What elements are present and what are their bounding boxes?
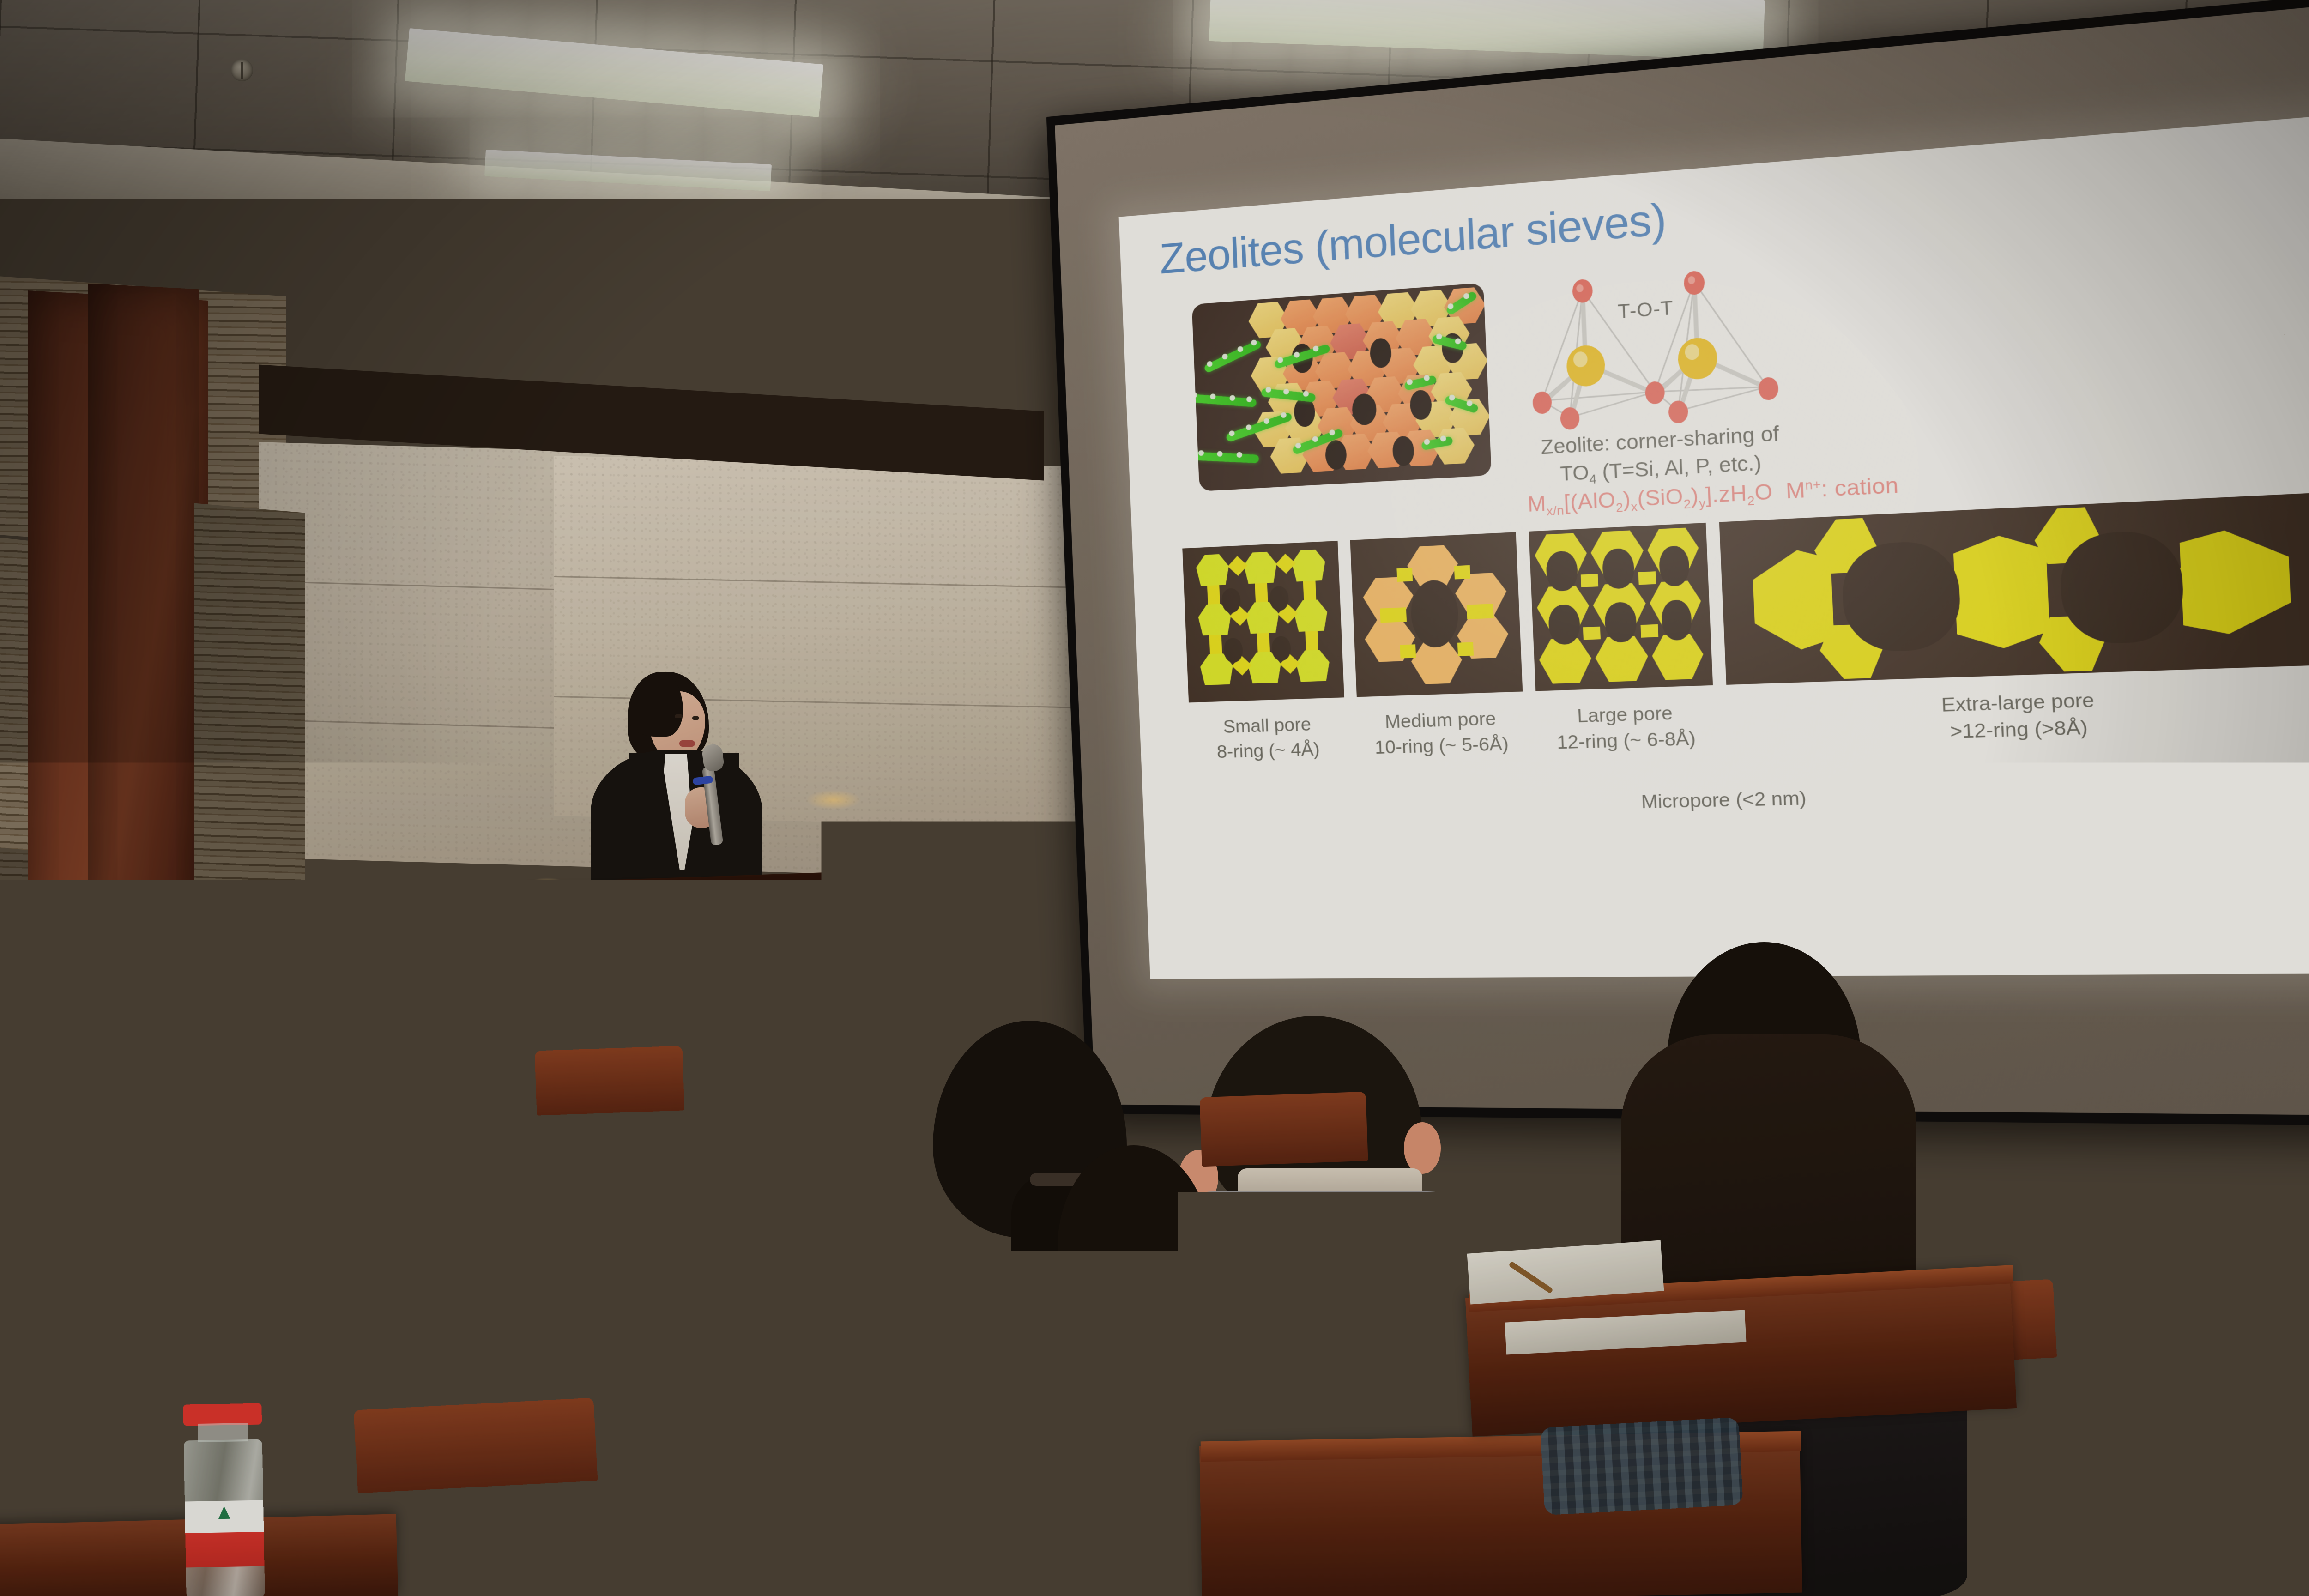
bottle-logo-icon xyxy=(218,1506,230,1519)
tot-caption-to: TO xyxy=(1559,460,1590,485)
pore-panel-small xyxy=(1182,541,1344,702)
formula-m: M xyxy=(1527,492,1547,516)
podium-indicator-light xyxy=(526,877,568,896)
water-bottle-right[interactable] xyxy=(1526,1167,1586,1322)
chair-back-left xyxy=(322,1179,518,1260)
formula-cation-m: M xyxy=(1785,478,1806,503)
presenter-eye xyxy=(692,716,699,720)
tot-caption-sub: 4 xyxy=(1589,472,1597,486)
formula-sio-sub: 2 xyxy=(1683,497,1692,512)
plaid-bag xyxy=(1540,1417,1743,1515)
ceiling-vent-1 xyxy=(231,59,253,81)
presenter-eye xyxy=(675,714,683,718)
pore-caption-extra-large: Extra-large pore >12-ring (>8Å) xyxy=(1727,680,2309,751)
bottle-cap xyxy=(183,1403,262,1426)
formula-sio-open: (SiO xyxy=(1637,484,1684,511)
pore-ring: 10-ring (~ 5-6Å) xyxy=(1358,731,1525,761)
bottle-logo-icon xyxy=(1552,1249,1561,1259)
pore-panel-extra-large xyxy=(1719,493,2309,685)
presenter-mouth xyxy=(679,740,695,747)
chair-back-middle-row xyxy=(535,1046,685,1115)
micropore-note: Micropore (<2 nm) xyxy=(1143,775,2309,823)
pore-panel-medium xyxy=(1350,532,1523,697)
molecule-chain xyxy=(1193,452,1259,463)
audience-ear xyxy=(1404,1122,1441,1174)
formula-sio-close: ) xyxy=(1690,484,1699,508)
extra-large-pore-opening xyxy=(1841,540,1962,653)
water-bottle-foreground[interactable] xyxy=(183,1403,265,1596)
presentation-slide: Zeolites (molecular sieves) xyxy=(1119,114,2309,979)
formula-bracket-close: ].zH xyxy=(1705,481,1747,508)
formula-m-sub: x/n xyxy=(1546,504,1565,518)
formula-sio-y: y xyxy=(1699,496,1706,511)
tot-diagram: T-O-T xyxy=(1518,256,1790,435)
bottle-label xyxy=(1529,1244,1586,1297)
chair-back-mid-right xyxy=(1199,1092,1368,1167)
formula-cation-text: : cation xyxy=(1821,473,1899,502)
formula-bracket-open: [(AlO xyxy=(1563,488,1616,514)
pore-name: Small pore xyxy=(1189,711,1346,740)
tot-label: T-O-T xyxy=(1617,297,1674,323)
formula-alo-sub: 2 xyxy=(1615,501,1623,514)
formula-water: O xyxy=(1754,480,1773,505)
formula-alo-close: ) xyxy=(1622,487,1631,512)
pore-panel-large xyxy=(1529,523,1713,691)
zeolite-hex-lattice xyxy=(1248,286,1492,487)
stage-accent-light xyxy=(806,790,861,810)
pore-ring: 12-ring (~ 6-8Å) xyxy=(1537,725,1716,756)
bottle-cap xyxy=(1526,1167,1582,1185)
pore-caption-medium: Medium pore 10-ring (~ 5-6Å) xyxy=(1357,705,1525,761)
zeolite-framework-image xyxy=(1192,283,1492,491)
eyeglasses-left xyxy=(0,1168,16,1196)
bottle-label xyxy=(185,1500,264,1568)
lecture-hall-photo: Zeolites (molecular sieves) xyxy=(0,0,2309,1596)
pore-ring: 8-ring (~ 4Å) xyxy=(1191,736,1347,766)
extra-large-pore-opening xyxy=(2059,529,2185,645)
chair-back-mid xyxy=(354,1398,598,1493)
eyeglasses-mid xyxy=(789,954,846,979)
audience-ear xyxy=(296,1062,329,1107)
presenter-hair-front xyxy=(628,672,683,737)
formula-alo-x: x xyxy=(1631,500,1638,514)
pore-caption-large: Large pore 12-ring (~ 6-8Å) xyxy=(1536,699,1716,756)
pore-caption-small: Small pore 8-ring (~ 4Å) xyxy=(1189,711,1347,765)
molecule-chain xyxy=(1192,393,1257,407)
formula-h-sub: 2 xyxy=(1747,494,1755,508)
room: Zeolites (molecular sieves) xyxy=(0,0,2309,1596)
formula-cation-sup: n+ xyxy=(1805,478,1821,493)
